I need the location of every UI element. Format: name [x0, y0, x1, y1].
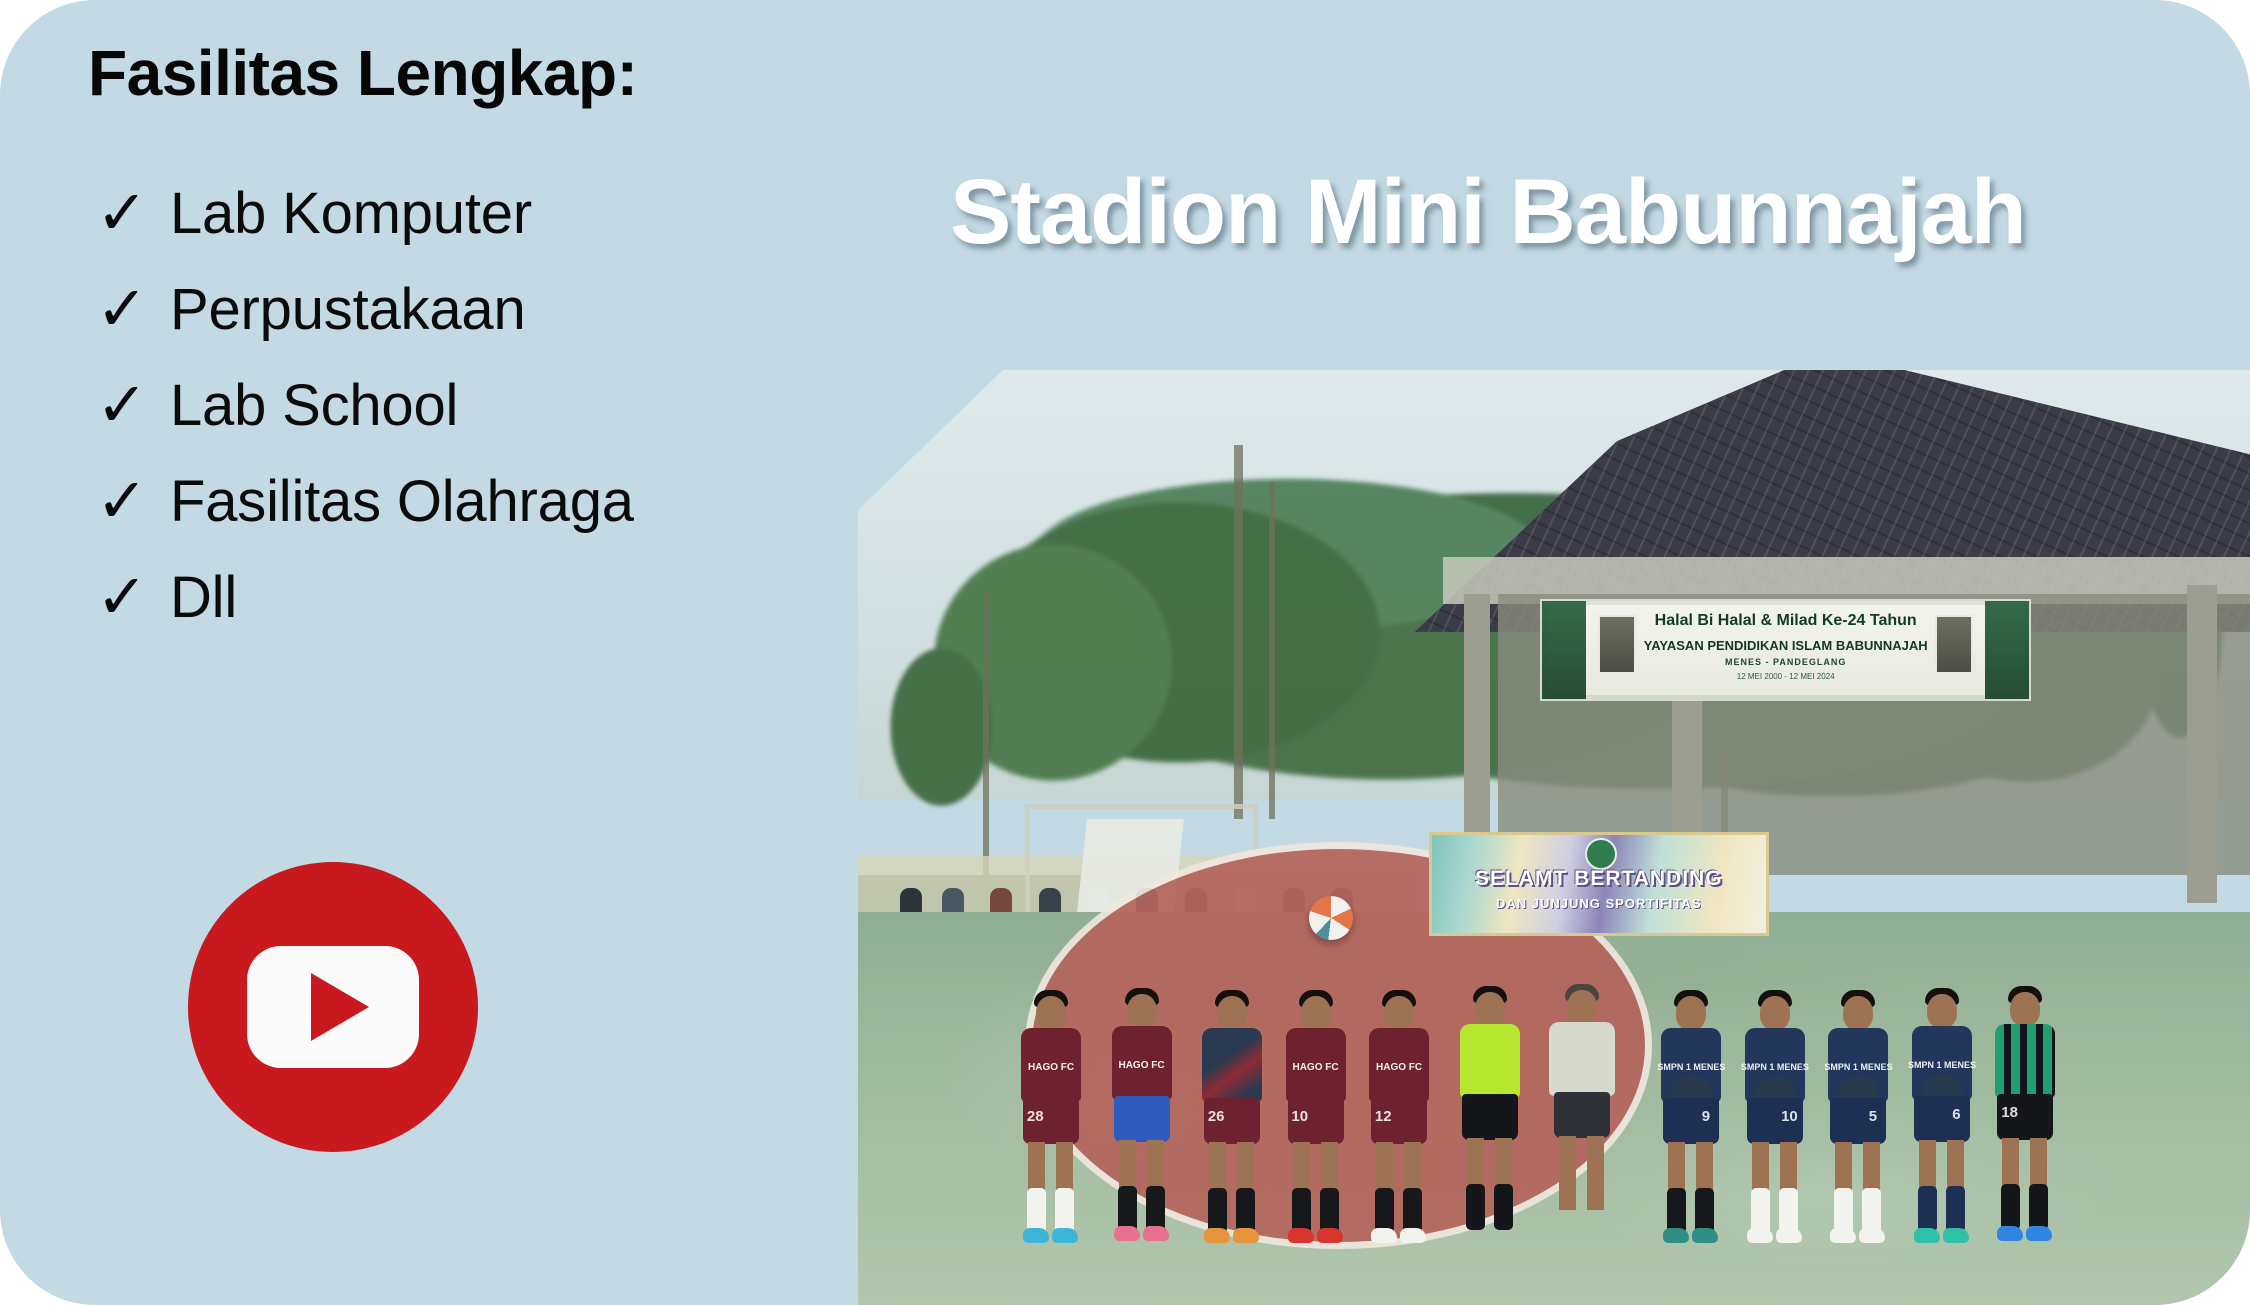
facility-label: Fasilitas Olahraga — [148, 468, 634, 535]
list-item: ✓ Lab School — [88, 357, 848, 453]
jersey-number: 28 — [1027, 1108, 1044, 1125]
pavilion-banner: Halal Bi Halal & Milad Ke-24 Tahun YAYAS… — [1540, 599, 2031, 701]
jersey-name: HAGO FC — [1118, 1060, 1164, 1071]
check-icon: ✓ — [88, 278, 148, 340]
check-icon: ✓ — [88, 374, 148, 436]
banner-line-3: MENES - PANDEGLANG — [1596, 657, 1976, 667]
jersey-number: 5 — [1869, 1108, 1877, 1125]
player: HAGO FC — [1109, 988, 1175, 1240]
youtube-screen — [247, 946, 419, 1068]
jersey-name: SMPN 1 MENES — [1908, 1060, 1976, 1070]
list-item: ✓ Fasilitas Olahraga — [88, 453, 848, 549]
pitch-banner: SELAMT BERTANDING DAN JUNJUNG SPORTIFITA… — [1429, 832, 1769, 936]
facilities-panel: Fasilitas Lengkap: ✓ Lab Komputer ✓ Perp… — [0, 0, 858, 1305]
banner-edge — [1542, 601, 1586, 699]
page-title: Fasilitas Lengkap: — [88, 36, 637, 110]
tree-trunk — [1234, 445, 1243, 819]
stadium-photo: Halal Bi Halal & Milad Ke-24 Tahun YAYAS… — [858, 370, 2250, 1305]
banner-line-4: 12 MEI 2000 - 12 MEI 2024 — [1596, 672, 1976, 681]
banner-edge — [1985, 601, 2029, 699]
player: HAGO FC 28 — [1018, 990, 1084, 1240]
check-icon: ✓ — [88, 470, 148, 532]
tree-trunk — [983, 594, 989, 875]
photo-title: Stadion Mini Babunnajah — [950, 160, 2026, 265]
list-item: ✓ Lab Komputer — [88, 165, 848, 261]
facility-label: Perpustakaan — [148, 276, 526, 343]
pitch-banner-line-1: SELAMT BERTANDING — [1442, 867, 1756, 891]
jersey-number: 9 — [1702, 1108, 1710, 1125]
school-logo-icon — [1585, 838, 1617, 870]
player: SMPN 1 MENES 5 — [1825, 990, 1891, 1240]
player: SMPN 1 MENES 6 — [1909, 988, 1975, 1240]
youtube-icon[interactable] — [188, 862, 478, 1152]
banner-line-2: YAYASAN PENDIDIKAN ISLAM BABUNNAJAH — [1596, 638, 1976, 653]
player: HAGO FC 12 — [1366, 990, 1432, 1240]
goalkeeper: 18 — [1992, 986, 2058, 1240]
player: SMPN 1 MENES 10 — [1742, 990, 1808, 1240]
pitch-banner-line-2: DAN JUNJUNG SPORTIFITAS — [1442, 896, 1756, 911]
facilities-slide: Fasilitas Lengkap: ✓ Lab Komputer ✓ Perp… — [0, 0, 2250, 1305]
player: SMPN 1 MENES 9 — [1658, 990, 1724, 1240]
jersey-number: 12 — [1375, 1108, 1392, 1125]
jersey-name: SMPN 1 MENES — [1824, 1062, 1892, 1072]
jersey-name: HAGO FC — [1376, 1062, 1422, 1073]
jersey-name: HAGO FC — [1028, 1062, 1074, 1073]
tree-trunk — [1269, 482, 1275, 819]
facility-label: Dll — [148, 564, 237, 631]
player: HAGO FC 10 — [1283, 990, 1349, 1240]
player: 26 — [1199, 990, 1265, 1240]
pavilion-column — [2187, 585, 2217, 903]
jersey-number: 10 — [1781, 1108, 1798, 1125]
coordinator — [1547, 984, 1617, 1240]
jersey-number: 18 — [2001, 1104, 2018, 1121]
facility-label: Lab Komputer — [148, 180, 532, 247]
check-icon: ✓ — [88, 566, 148, 628]
banner-line-1: Halal Bi Halal & Milad Ke-24 Tahun — [1596, 612, 1976, 630]
list-item: ✓ Perpustakaan — [88, 261, 848, 357]
jersey-number: 6 — [1952, 1106, 1960, 1123]
facility-list: ✓ Lab Komputer ✓ Perpustakaan ✓ Lab Scho… — [88, 165, 848, 645]
jersey-name: SMPN 1 MENES — [1657, 1062, 1725, 1072]
facility-label: Lab School — [148, 372, 458, 439]
referee — [1457, 986, 1523, 1240]
check-icon: ✓ — [88, 182, 148, 244]
jersey-name: HAGO FC — [1292, 1062, 1338, 1073]
photo-content: Halal Bi Halal & Milad Ke-24 Tahun YAYAS… — [858, 370, 2250, 1305]
play-triangle-icon — [311, 973, 369, 1041]
jersey-number: 26 — [1208, 1108, 1225, 1125]
list-item: ✓ Dll — [88, 549, 848, 645]
jersey-name: SMPN 1 MENES — [1741, 1062, 1809, 1072]
jersey-number: 10 — [1291, 1108, 1308, 1125]
